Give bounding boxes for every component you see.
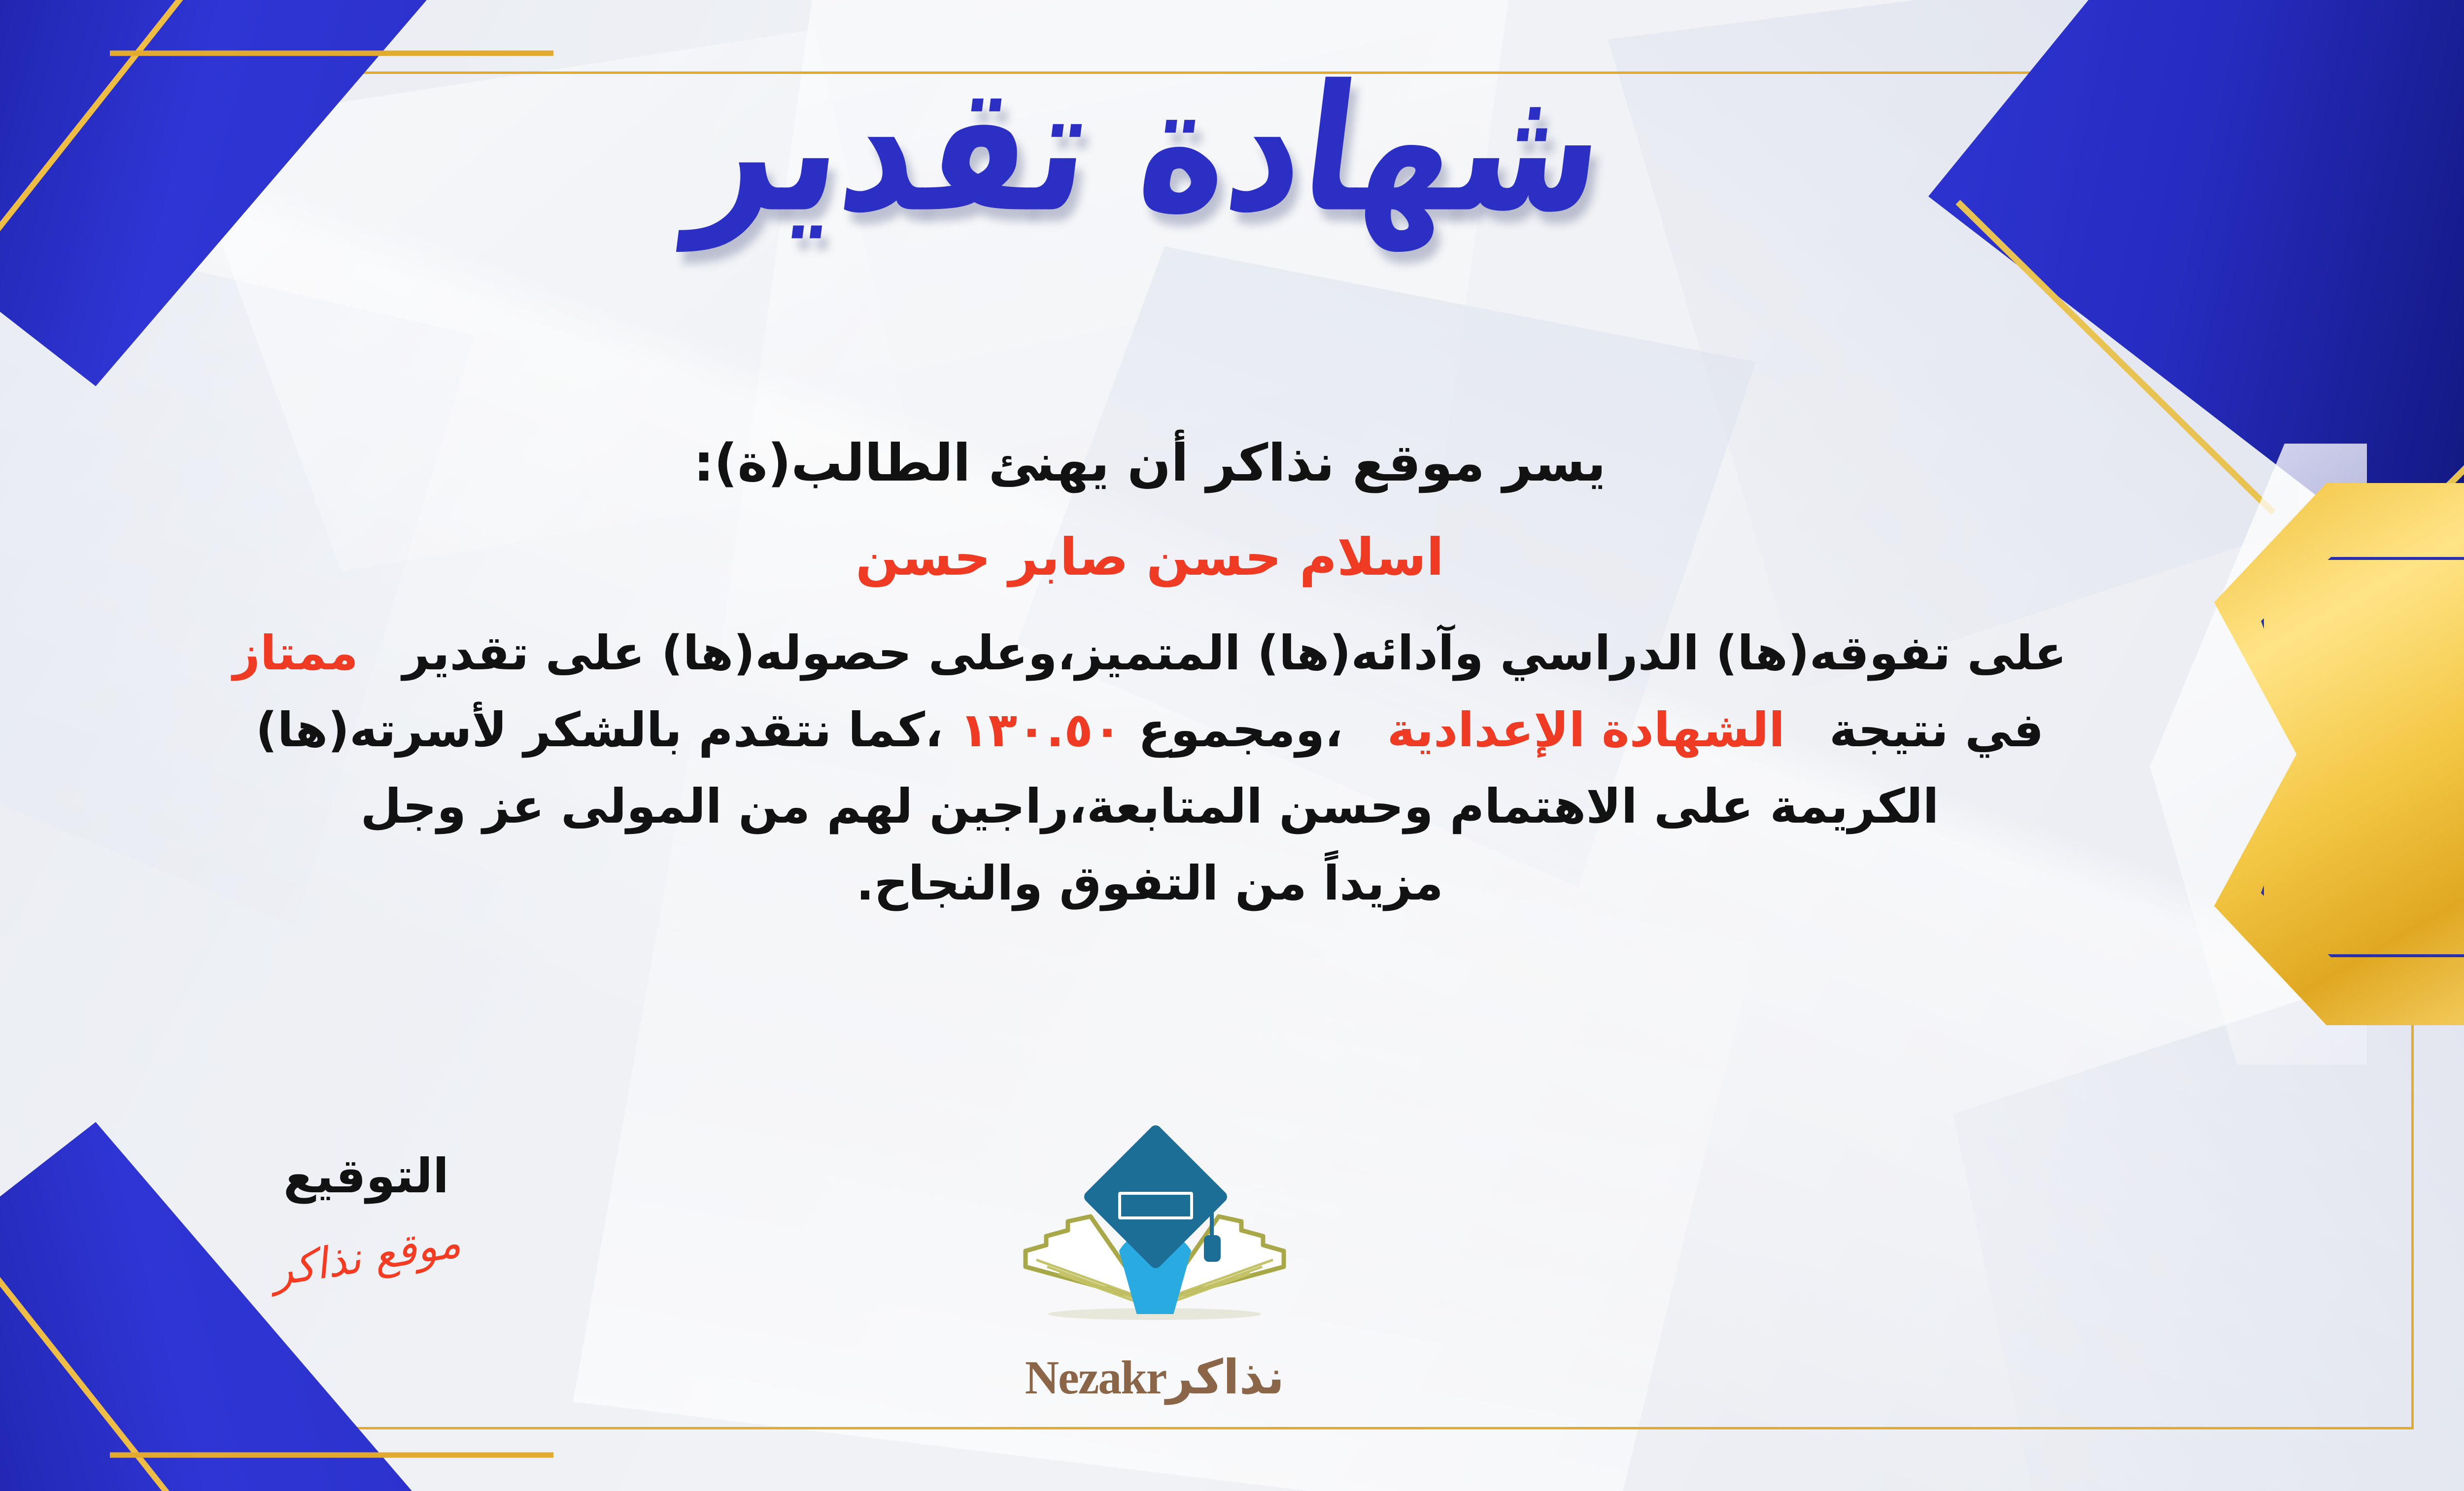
graduation-cap-tassel-knot: [1204, 1235, 1221, 1262]
title-area: شهادة تقدير: [0, 64, 2464, 234]
body-line-2-suffix: ،كما نتقدم بالشكر لأسرته(ها): [256, 702, 943, 758]
body-line-1: على تفوقه(ها) الدراسي وآدائه(ها) المتميز…: [0, 615, 2367, 692]
student-name: اسلام حسن صابر حسن: [0, 519, 2367, 595]
signature-label: التوقيع: [208, 1148, 524, 1204]
graduation-cap-tassel: [1210, 1181, 1214, 1240]
brand-logo: نذاكرNezakr: [982, 1134, 1327, 1405]
body-line-2: في نتيجةالشهادة الإعدادية،ومجموع ١٣٠.٥٠ …: [0, 692, 2367, 769]
certificate-body: يسر موقع نذاكر أن يهنئ الطالب(ة): اسلام …: [0, 424, 2367, 922]
grade-value: ممتاز: [233, 625, 358, 681]
signature-block: التوقيع موقع نذاكر: [208, 1148, 524, 1282]
graduation-cap-band: [1118, 1192, 1193, 1219]
brand-name: نذاكرNezakr: [982, 1350, 1327, 1405]
page-title: شهادة تقدير: [683, 49, 1615, 249]
total-score: ١٣٠.٥٠: [959, 702, 1122, 758]
body-paragraph: على تفوقه(ها) الدراسي وآدائه(ها) المتميز…: [0, 615, 2367, 922]
exam-name: الشهادة الإعدادية: [1387, 702, 1785, 758]
body-line-2-prefix: في نتيجة: [1829, 702, 2044, 758]
certificate-canvas: شهادة تقدير يسر موقع نذاكر أن يهنئ الطال…: [0, 0, 2464, 1491]
body-line-2-mid: ،ومجموع: [1138, 702, 1343, 758]
body-line-1-text: على تفوقه(ها) الدراسي وآدائه(ها) المتميز…: [403, 625, 2067, 681]
greeting-text: يسر موقع نذاكر أن يهنئ الطالب(ة):: [0, 424, 2367, 502]
body-line-3: الكريمة على الاهتمام وحسن المتابعة،راجين…: [0, 768, 2367, 845]
brand-name-latin: Nezakr: [1025, 1350, 1166, 1405]
graduate-book-icon: [1017, 1134, 1293, 1341]
body-line-4: مزيداً من التفوق والنجاح.: [0, 845, 2367, 922]
brand-name-arabic: نذاكر: [1166, 1350, 1284, 1405]
